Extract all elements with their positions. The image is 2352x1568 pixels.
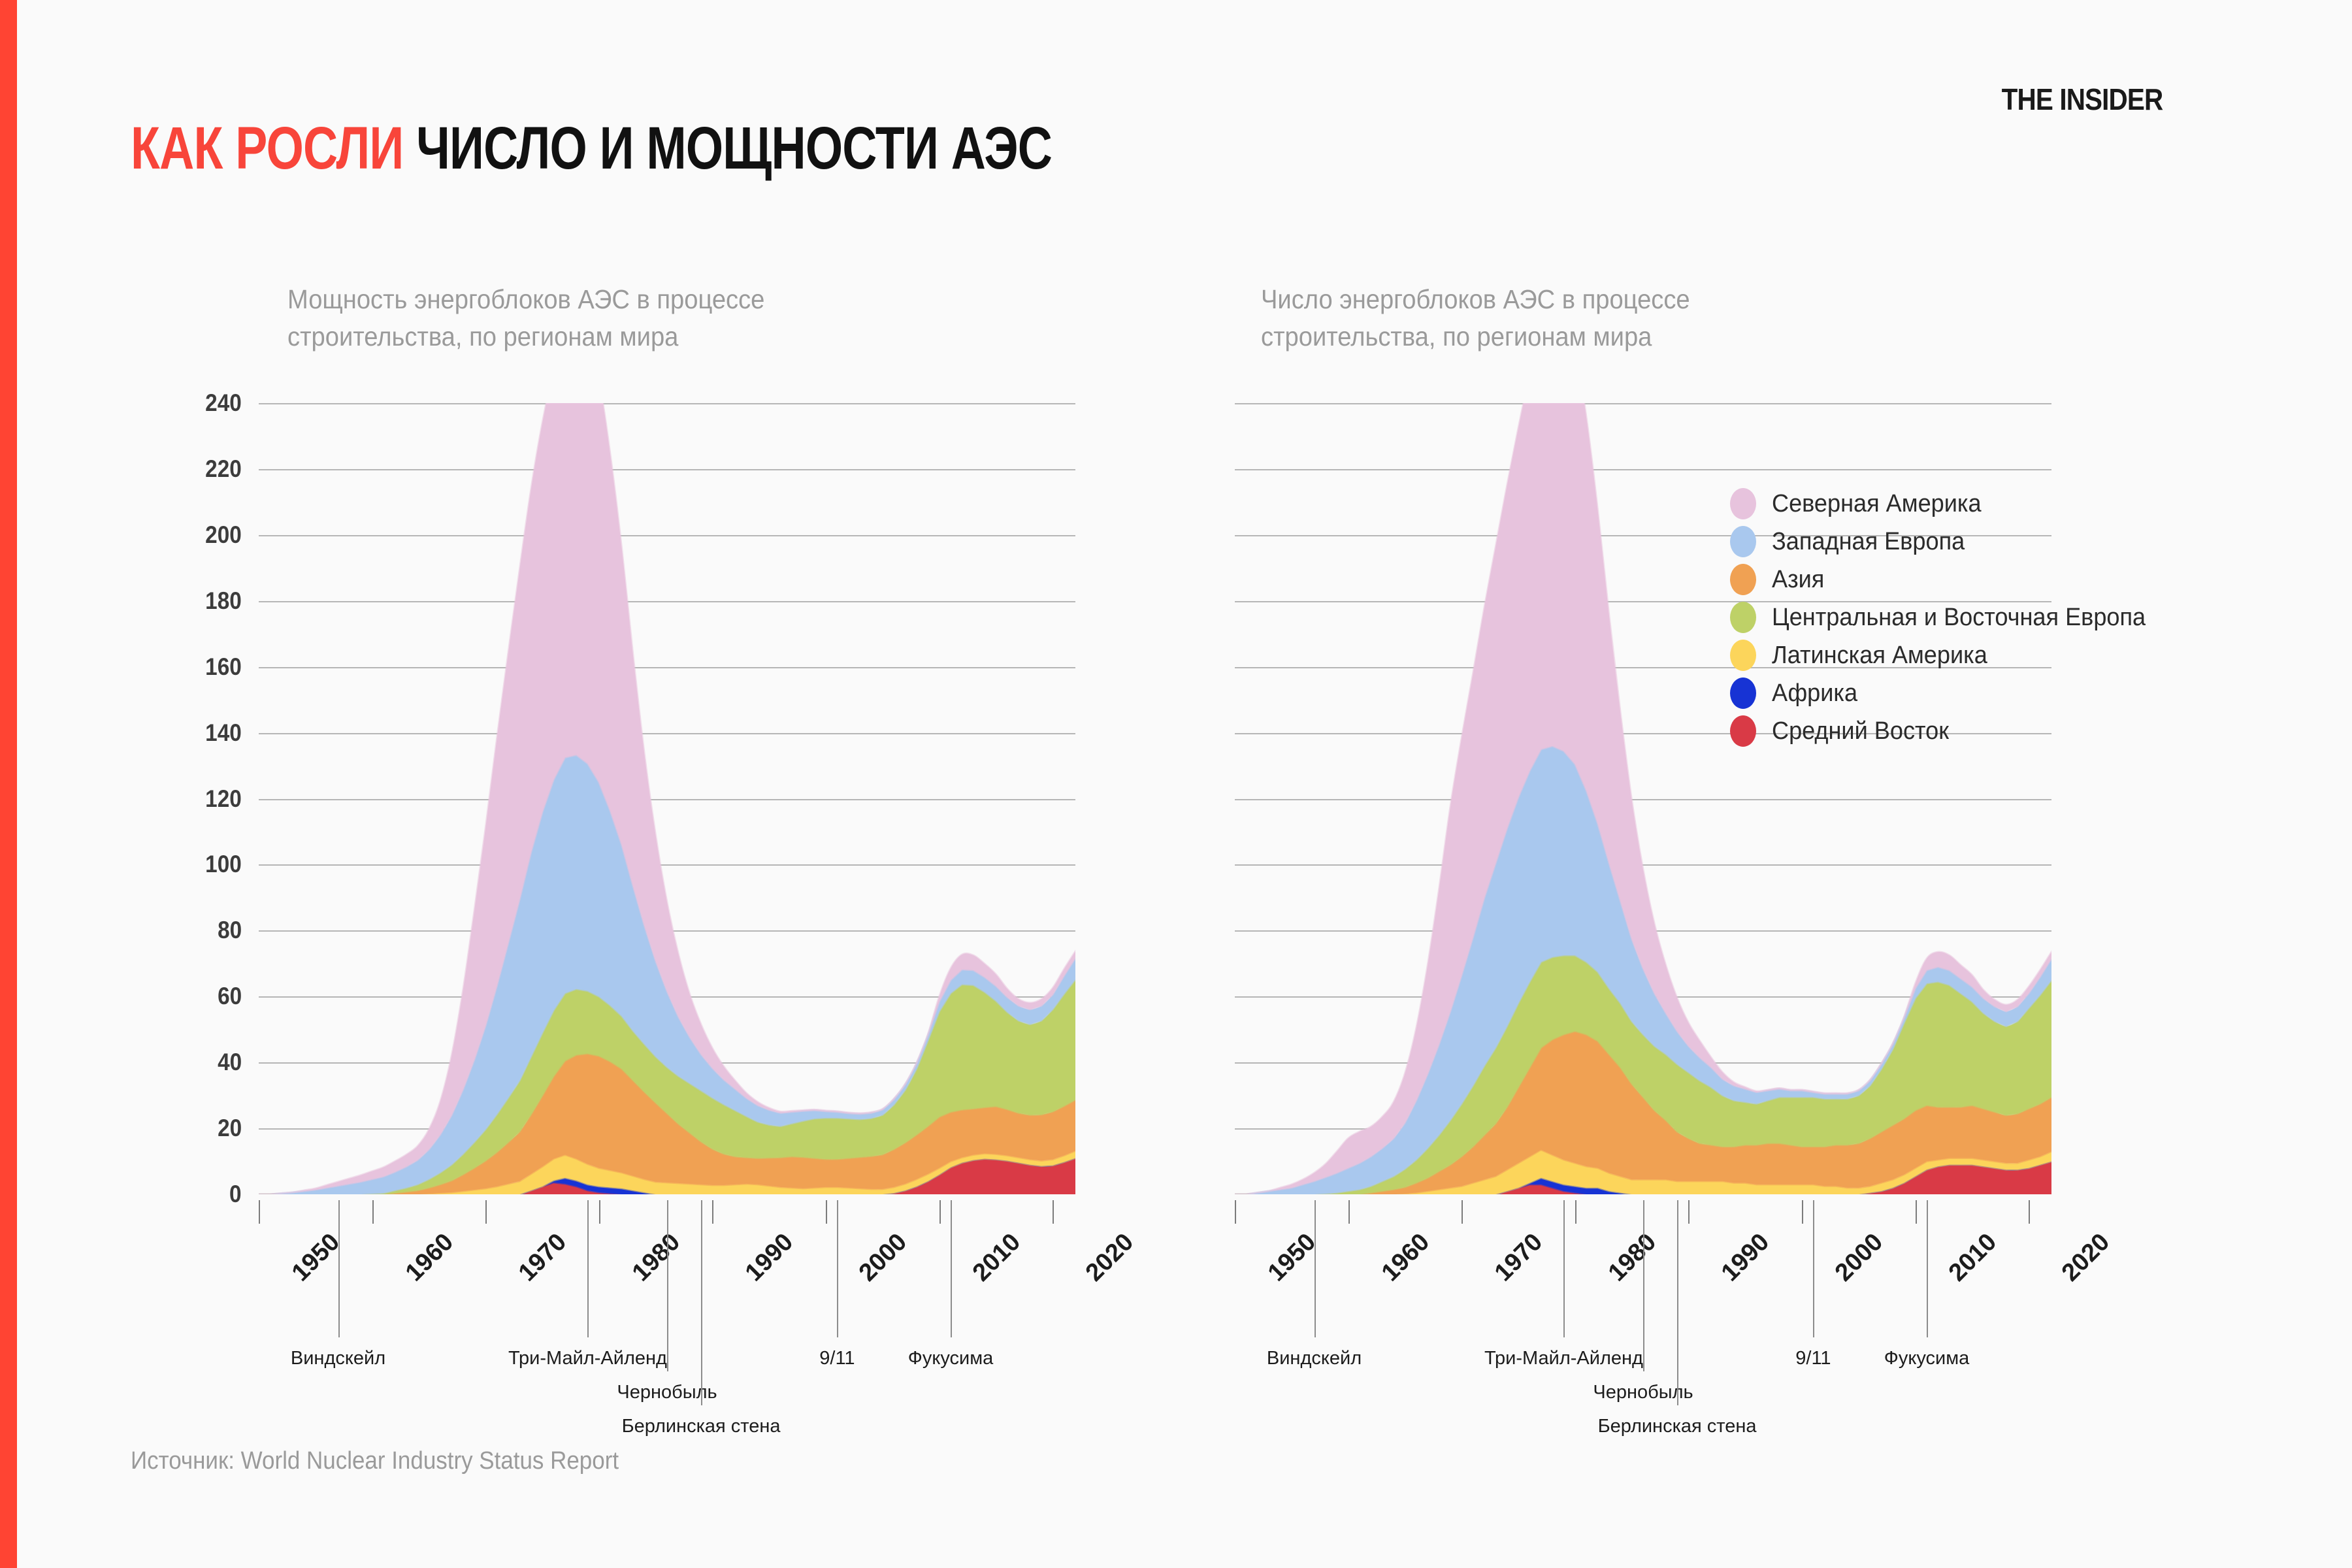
event-marker-label: 9/11 [819,1348,855,1369]
legend-item-label: Латинская Америка [1772,642,1987,670]
y-axis-tick-label: 80 [218,917,242,944]
x-axis-tick-label: 1970 [1490,1228,1548,1287]
chart-title-power: Мощность энергоблоков АЭС в процессе стр… [287,281,1053,355]
event-marker-label: 9/11 [1795,1348,1831,1369]
x-axis-tick-mark [1575,1200,1576,1224]
x-axis-tick-mark [485,1200,487,1224]
x-axis-tick-label: 2020 [2057,1228,2115,1287]
event-marker-line [1563,1200,1565,1337]
x-axis-tick-mark [1348,1200,1350,1224]
x-axis-tick-label: 2010 [967,1228,1026,1287]
event-marker-label: Виндскейл [1267,1348,1362,1369]
event-marker-line [1315,1200,1316,1337]
legend-item[interactable]: Западная Европа [1730,523,2165,561]
legend-swatch-icon [1730,640,1756,671]
x-axis-tick-mark [1688,1200,1690,1224]
left-accent-bar [0,0,17,1568]
legend-item-label: Северная Америка [1772,490,1982,518]
event-marker-label: Фукусима [908,1348,994,1369]
page-title-highlight: КАК РОСЛИ [131,115,403,182]
x-axis-tick-mark [372,1200,374,1224]
page-title: КАК РОСЛИ ЧИСЛО И МОЩНОСТИ АЭС [131,114,1052,183]
y-axis-tick-label: 0 [229,1181,242,1208]
legend-item[interactable]: Азия [1730,561,2165,598]
x-axis-tick-mark [939,1200,941,1224]
chart-title-count: Число энергоблоков АЭС в процессе строит… [1261,281,2027,355]
x-axis-tick-mark [1802,1200,1803,1224]
event-marker-line [338,1200,340,1337]
x-axis-tick-mark [1916,1200,1917,1224]
brand-logo: THE INSIDER [2001,82,2163,117]
legend-swatch-icon [1730,564,1756,595]
legend-swatch-icon [1730,488,1756,519]
source-note: Источник: World Nuclear Industry Status … [131,1447,619,1475]
x-axis-tick-label: 1990 [740,1228,799,1287]
legend-item-label: Средний Восток [1772,717,1949,745]
x-axis-tick-mark [1462,1200,1463,1224]
event-marker-line [951,1200,952,1337]
x-axis-tick-mark [1053,1200,1054,1224]
y-axis-tick-label: 40 [218,1049,242,1076]
x-axis-tick-label: 2010 [1943,1228,2002,1287]
x-axis-tick-label: 1960 [1376,1228,1435,1287]
legend-item-label: Азия [1772,566,1824,594]
y-axis-tick-label: 140 [205,719,242,747]
event-marker-line [1643,1200,1644,1371]
x-axis-tick-label: 1990 [1716,1228,1775,1287]
legend-item[interactable]: Африка [1730,674,2165,712]
page-title-rest: ЧИСЛО И МОЩНОСТИ АЭС [416,115,1052,182]
legend-swatch-icon [1730,678,1756,709]
event-marker-label: Три-Майл-Айленд [508,1348,667,1369]
legend-item[interactable]: Центральная и Восточная Европа [1730,598,2165,636]
event-marker-label: Виндскейл [291,1348,385,1369]
stacked-area-series [259,403,1075,1194]
x-axis-tick-mark [1235,1200,1236,1224]
y-axis-tick-label: 180 [205,587,242,615]
x-axis-tick-label: 2000 [1830,1228,1889,1287]
legend-item-label: Западная Европа [1772,528,1965,556]
event-marker-line [837,1200,838,1337]
x-axis-tick-label: 2020 [1081,1228,1139,1287]
x-axis-tick-label: 2000 [854,1228,913,1287]
x-axis-tick-mark [2029,1200,2030,1224]
x-axis-tick-mark [826,1200,827,1224]
x-axis-tick-label: 1970 [514,1228,572,1287]
event-marker-label: Фукусима [1884,1348,1970,1369]
x-axis-tick-label: 1980 [627,1228,686,1287]
x-axis-tick-label: 1950 [1263,1228,1322,1287]
x-axis-tick-mark [712,1200,713,1224]
legend-item[interactable]: Северная Америка [1730,485,2165,523]
x-axis-tick-mark [599,1200,600,1224]
legend-item[interactable]: Средний Восток [1730,712,2165,750]
x-axis-tick-label: 1960 [400,1228,459,1287]
x-axis-tick-mark [259,1200,260,1224]
y-axis-tick-label: 200 [205,521,242,549]
y-axis-tick-label: 160 [205,653,242,681]
y-axis-tick-label: 60 [218,983,242,1010]
legend: Северная АмерикаЗападная ЕвропаАзияЦентр… [1730,485,2165,750]
y-axis-tick-label: 240 [205,389,242,417]
legend-swatch-icon [1730,526,1756,557]
y-axis-tick-label: 20 [218,1115,242,1142]
y-axis-tick-label: 100 [205,851,242,878]
event-marker-line [1927,1200,1928,1337]
legend-swatch-icon [1730,602,1756,633]
x-axis-tick-label: 1950 [287,1228,346,1287]
event-marker-line [1813,1200,1814,1337]
event-marker-line [701,1200,702,1405]
event-marker-line [587,1200,589,1337]
y-axis-tick-label: 120 [205,785,242,813]
event-marker-line [1677,1200,1678,1405]
legend-item[interactable]: Латинская Америка [1730,636,2165,674]
event-marker-line [667,1200,668,1371]
event-marker-label: Берлинская стена [622,1416,781,1437]
legend-item-label: Центральная и Восточная Европа [1772,604,2146,632]
y-axis-tick-label: 220 [205,455,242,483]
x-axis-tick-label: 1980 [1603,1228,1662,1287]
chart-plot-power: 2402202001801601401201008060402001950196… [259,403,1075,1194]
event-marker-label: Три-Майл-Айленд [1484,1348,1643,1369]
legend-swatch-icon [1730,715,1756,747]
legend-item-label: Африка [1772,679,1857,708]
event-marker-label: Берлинская стена [1598,1416,1757,1437]
